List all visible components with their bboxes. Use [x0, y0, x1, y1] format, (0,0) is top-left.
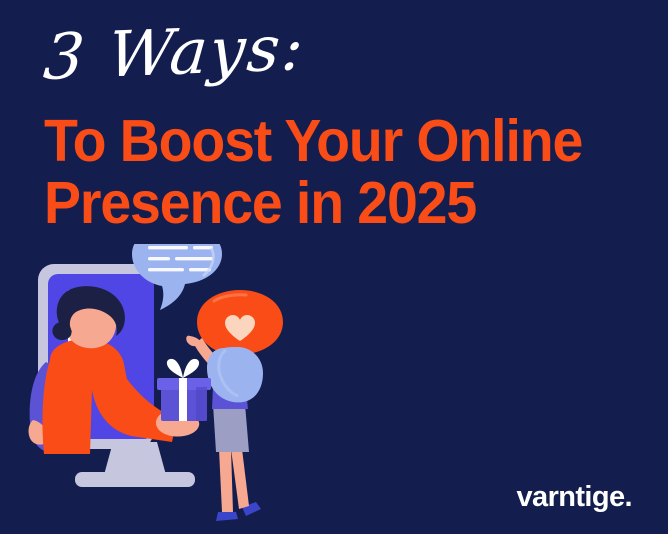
poster-canvas: 3 Ways: To Boost Your Online Presence in…	[0, 0, 668, 534]
gift-box-icon	[157, 359, 211, 421]
script-headline: 3 Ways:	[41, 16, 307, 89]
page-title: To Boost Your Online Presence in 2025	[44, 110, 644, 234]
brand-logo: varntige.	[517, 483, 632, 512]
headline-line-2: Presence in 2025	[44, 172, 608, 234]
headline-block: 3 Ways: To Boost Your Online Presence in…	[0, 0, 668, 250]
headline-line-1: To Boost Your Online	[44, 110, 608, 172]
hero-illustration	[0, 244, 310, 534]
